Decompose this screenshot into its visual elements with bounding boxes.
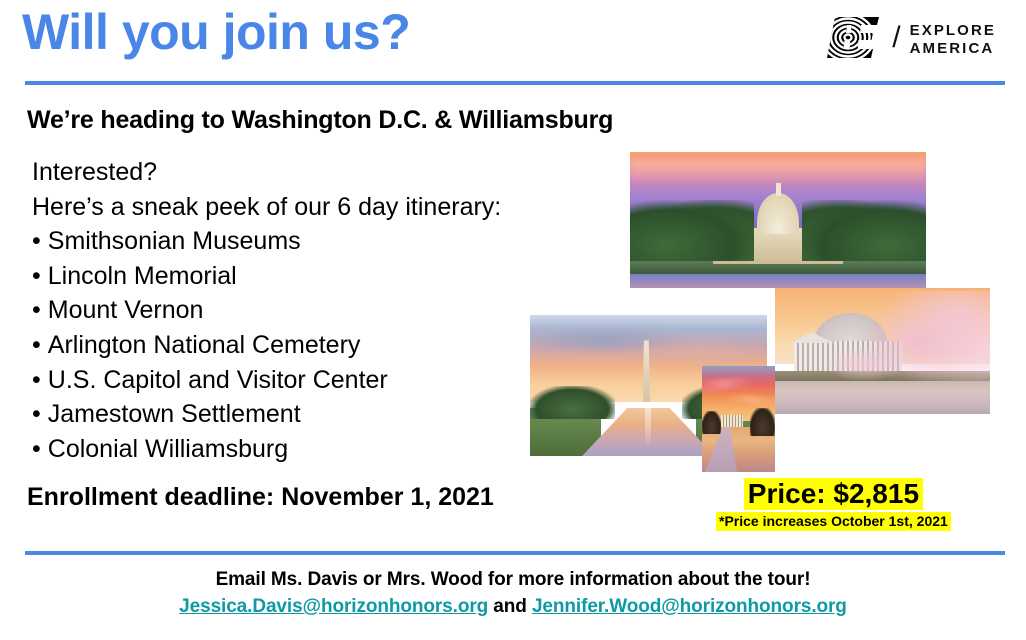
divider-top [25, 81, 1005, 85]
photo-trees-left [530, 386, 615, 420]
photo-us-capitol-at-dusk [630, 152, 926, 288]
photo-cherry-blossoms-right [870, 291, 990, 382]
photo-obelisk-reflection [645, 408, 651, 447]
photo-capitol-spire [776, 183, 781, 195]
photo-tidal-basin [775, 379, 990, 414]
page-title: Will you join us? [22, 4, 410, 62]
list-item: Smithsonian Museums [32, 224, 632, 259]
photo-clouds [630, 160, 926, 182]
footer-emails: Jessica.Davis@horizonhonors.org and Jenn… [0, 593, 1026, 620]
divider-bottom [25, 551, 1005, 555]
logo-separator: / [892, 23, 900, 53]
email-link-jessica-davis[interactable]: Jessica.Davis@horizonhonors.org [179, 596, 488, 617]
photo-water [630, 273, 926, 288]
logo-wordmark-line2: AMERICA [910, 40, 996, 58]
logo-wordmark: EXPLORE AMERICA [910, 22, 996, 59]
email-link-jennifer-wood[interactable]: Jennifer.Wood@horizonhonors.org [532, 596, 847, 617]
photo-jefferson-memorial-cherry-blossoms [775, 288, 990, 414]
ef-explore-america-logo: / EXPLORE AMERICA [821, 14, 996, 66]
enrollment-deadline: Enrollment deadline: November 1, 2021 [27, 483, 494, 512]
photo-trees-left [702, 411, 721, 434]
photo-trees-right [750, 408, 775, 436]
price-increase-note: *Price increases October 1st, 2021 [716, 512, 951, 530]
slide-canvas: Will you join us? [0, 0, 1026, 640]
price-block: Price: $2,815 *Price increases October 1… [716, 478, 951, 531]
footer-conjunction: and [488, 596, 532, 617]
photo-trees-right [802, 200, 926, 261]
ef-logo-icon [821, 15, 883, 66]
price-amount: Price: $2,815 [744, 478, 923, 510]
subheading: We’re heading to Washington D.C. & Willi… [27, 106, 613, 135]
footer: Email Ms. Davis or Mrs. Wood for more in… [0, 567, 1026, 620]
photo-trees-left [630, 200, 754, 261]
photo-lincoln-memorial-building [721, 415, 743, 428]
photo-lincoln-memorial-sunset [702, 366, 775, 472]
intro-line: Here’s a sneak peek of our 6 day itinera… [32, 190, 632, 225]
list-item: Lincoln Memorial [32, 259, 632, 294]
intro-line: Interested? [32, 155, 632, 190]
logo-wordmark-line1: EXPLORE [910, 22, 996, 40]
footer-message: Email Ms. Davis or Mrs. Wood for more in… [0, 567, 1026, 593]
